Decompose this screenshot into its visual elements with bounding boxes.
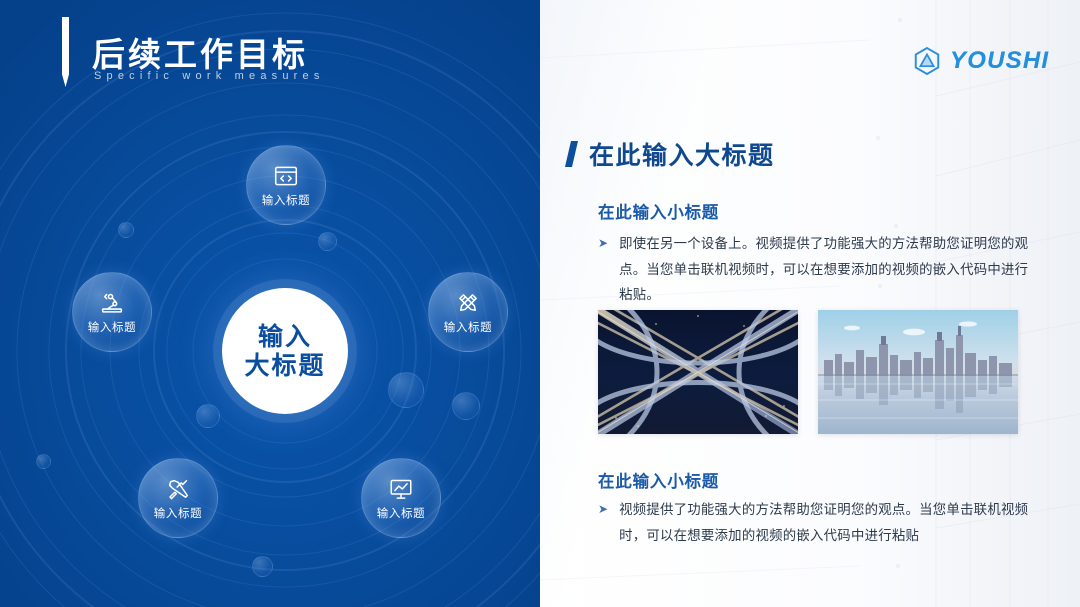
decor-bubble-5: [452, 392, 480, 420]
decor-bubble-7: [36, 454, 51, 469]
page-title: 后续工作目标: [92, 28, 308, 76]
decor-bubble-1: [388, 372, 424, 408]
main-heading: 在此输入大标题: [568, 136, 775, 172]
main-heading-text: 在此输入大标题: [589, 136, 775, 172]
brand-logo: YOUSHI: [912, 46, 1049, 76]
node-left[interactable]: 输入标题: [72, 272, 152, 352]
node-top-label: 输入标题: [262, 192, 310, 208]
decor-bubble-3: [318, 232, 337, 251]
photo-city-skyline-reflection[interactable]: [818, 310, 1018, 434]
node-bottom-right[interactable]: 输入标题: [361, 458, 441, 538]
center-node-line1: 输入: [258, 322, 312, 351]
paragraph-b-text: 视频提供了功能强大的方法帮助您证明您的观点。当您单击联机视频时，可以在想要添加的…: [619, 498, 1038, 549]
node-left-label: 输入标题: [88, 319, 136, 335]
slide: 后续工作目标 Specific work measures 输入 大标题 输入标…: [0, 0, 1080, 607]
node-bottom-right-label: 输入标题: [377, 505, 425, 521]
photo-highway-interchange[interactable]: [598, 310, 798, 434]
node-bottom-left[interactable]: 输入标题: [138, 458, 218, 538]
decor-bubble-6: [252, 556, 273, 577]
node-right-label: 输入标题: [444, 319, 492, 335]
node-top[interactable]: 输入标题: [246, 145, 326, 225]
decor-bubble-4: [118, 222, 134, 238]
paragraph-a: ➤ 即使在另一个设备上。视频提供了功能强大的方法帮助您证明您的观点。当您单击联机…: [598, 232, 1038, 309]
wrench-screwdriver-icon: [165, 476, 191, 502]
hexagon-logo-icon: [912, 46, 942, 76]
page-subtitle-en: Specific work measures: [94, 70, 325, 82]
subheading-a: 在此输入小标题: [598, 199, 719, 223]
code-window-icon: [273, 163, 299, 189]
node-bottom-left-label: 输入标题: [154, 505, 202, 521]
paragraph-a-text: 即使在另一个设备上。视频提供了功能强大的方法帮助您证明您的观点。当您单击联机视频…: [619, 232, 1038, 309]
paragraph-b: ➤ 视频提供了功能强大的方法帮助您证明您的观点。当您单击联机视频时，可以在想要添…: [598, 498, 1038, 549]
node-right[interactable]: 输入标题: [428, 272, 508, 352]
pencil-ruler-icon: [455, 290, 481, 316]
image-gallery: [598, 310, 1018, 434]
robot-arm-icon: [99, 290, 125, 316]
bullet-arrow-icon-b: ➤: [598, 498, 608, 549]
center-node[interactable]: 输入 大标题: [222, 288, 348, 414]
bullet-arrow-icon-a: ➤: [598, 232, 608, 309]
subheading-b: 在此输入小标题: [598, 468, 719, 492]
presentation-chart-icon: [388, 476, 414, 502]
title-accent-bar: [62, 17, 69, 87]
brand-logo-text: YOUSHI: [950, 47, 1049, 75]
left-blue-panel: 后续工作目标 Specific work measures 输入 大标题 输入标…: [0, 0, 540, 607]
right-content-panel: YOUSHI 在此输入大标题 在此输入小标题 ➤ 即使在另一个设备上。视频提供了…: [540, 0, 1080, 607]
decor-bubble-2: [196, 404, 220, 428]
center-node-line2: 大标题: [244, 351, 325, 380]
